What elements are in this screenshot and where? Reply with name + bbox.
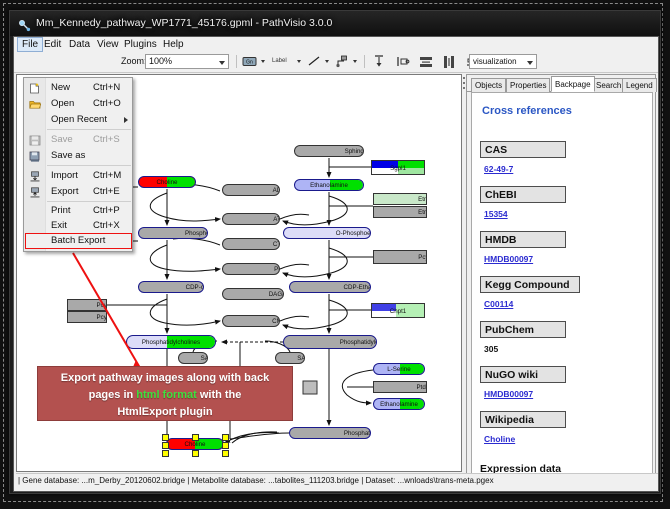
xref-value-kegg-compound[interactable]: C00114 bbox=[484, 299, 513, 309]
node-o-phosphoethanolamine[interactable]: O-Phosphoethanolamine bbox=[283, 227, 371, 239]
import-icon bbox=[29, 170, 41, 181]
node-atp[interactable]: ATP bbox=[222, 213, 280, 225]
xref-header-pubchem: PubChem bbox=[480, 321, 566, 338]
visualization-combobox[interactable]: visualization bbox=[469, 54, 537, 69]
file-menu-item-print[interactable]: Print Ctrl+P bbox=[25, 203, 133, 218]
xref-header-kegg-compound: Kegg Compound bbox=[480, 276, 580, 293]
xref-value-wikipedia[interactable]: Choline bbox=[484, 434, 515, 444]
xref-header-chebi: ChEBI bbox=[480, 186, 566, 203]
node-phosphatidylcholines[interactable]: Phosphatidylcholines bbox=[126, 335, 216, 349]
selection-handle-se[interactable] bbox=[222, 450, 229, 457]
file-menu-exit-accel: Ctrl+X bbox=[93, 218, 120, 233]
zoom-value: 100% bbox=[149, 56, 172, 66]
xref-value-cas[interactable]: 62-49-7 bbox=[484, 164, 513, 174]
selection-handle-nw[interactable] bbox=[162, 434, 169, 441]
tab-objects[interactable]: Objects bbox=[471, 78, 506, 92]
label-dropdown-button[interactable] bbox=[295, 54, 303, 69]
file-menu-item-export[interactable]: Export Ctrl+E bbox=[25, 184, 133, 199]
desktop-background: Mm_Kennedy_pathway_WP1771_45176.gpml - P… bbox=[0, 0, 670, 509]
menu-edit[interactable]: Edit bbox=[40, 38, 65, 51]
node-cmp[interactable]: CMP bbox=[222, 315, 280, 327]
file-menu-import-accel: Ctrl+M bbox=[93, 168, 121, 183]
pathvisio-application-window: Mm_Kennedy_pathway_WP1771_45176.gpml - P… bbox=[9, 10, 661, 494]
annotation-callout: Export pathway images along with back pa… bbox=[37, 366, 293, 421]
file-menu-item-exit[interactable]: Exit Ctrl+X bbox=[25, 218, 133, 233]
menu-view[interactable]: View bbox=[93, 38, 123, 51]
chevron-down-icon bbox=[219, 61, 225, 65]
chevron-down-icon-2 bbox=[527, 61, 533, 65]
callout-line-2: pages in html format with the bbox=[38, 387, 292, 404]
tab-properties[interactable]: Properties bbox=[506, 78, 550, 92]
tab-legend[interactable]: Legend bbox=[622, 78, 657, 92]
cross-references-title: Cross references bbox=[482, 105, 572, 117]
xref-header-nugo-wiki: NuGO wiki bbox=[480, 366, 566, 383]
gene-etnk2[interactable]: Etnk2 bbox=[373, 206, 427, 218]
node-cdp-choline[interactable]: CDP-choline bbox=[138, 281, 204, 293]
sidebar-panel: Objects Properties Backpage Search Legen… bbox=[466, 74, 656, 486]
open-folder-icon bbox=[29, 98, 41, 109]
file-menu-item-import[interactable]: Import Ctrl+M bbox=[25, 168, 133, 183]
submenu-arrow-icon bbox=[124, 117, 128, 123]
node-cdp-ethanolamine[interactable]: CDP-Ethanolamine bbox=[289, 281, 371, 293]
line-tool-button[interactable] bbox=[307, 54, 321, 69]
application-client-area: File Edit Data View Plugins Help Zoom: 1… bbox=[13, 36, 659, 492]
file-menu-export-accel: Ctrl+E bbox=[93, 184, 120, 199]
selection-handle-w[interactable] bbox=[162, 442, 169, 449]
xref-header-cas: CAS bbox=[480, 141, 566, 158]
xref-value-nugo-wiki[interactable]: HMDB00097 bbox=[484, 389, 533, 399]
file-menu-batch-export-label: Batch Export bbox=[51, 235, 105, 246]
gene-chpt1[interactable]: Chpt1 bbox=[371, 303, 425, 318]
selection-handle-e[interactable] bbox=[222, 442, 229, 449]
label-tool-button[interactable]: Label bbox=[272, 54, 294, 69]
zoom-label: Zoom: bbox=[121, 56, 147, 66]
xref-header-hmdb: HMDB bbox=[480, 231, 566, 248]
node-sphingolipids[interactable]: Sphingolipids bbox=[294, 145, 364, 157]
file-menu-save-label: Save bbox=[51, 132, 73, 147]
xref-header-wikipedia: Wikipedia bbox=[480, 411, 566, 428]
node-sah[interactable]: SAH bbox=[178, 352, 208, 364]
sidebar-tab-strip: Objects Properties Backpage Search Legen… bbox=[467, 75, 655, 92]
main-toolbar: Zoom: 100% Gn Label bbox=[14, 52, 658, 73]
window-title-text: Mm_Kennedy_pathway_WP1771_45176.gpml - P… bbox=[36, 11, 332, 36]
distribute-horizontal-button[interactable] bbox=[441, 54, 457, 69]
gene-sgpl1[interactable]: Sgpl1 bbox=[371, 160, 425, 175]
status-bar: | Gene database: ...m_Derby_20120602.bri… bbox=[16, 473, 658, 487]
gene-pcyt1a[interactable]: Pcyt1a bbox=[67, 311, 107, 323]
node-choline-selected[interactable]: Choline bbox=[166, 438, 224, 451]
window-title-bar: Mm_Kennedy_pathway_WP1771_45176.gpml - P… bbox=[10, 11, 660, 36]
file-menu-dropdown[interactable]: New Ctrl+N Open Ctrl+O Open Recent bbox=[23, 77, 133, 252]
node-ppi[interactable]: PPi bbox=[222, 263, 280, 275]
selection-handle-ne[interactable] bbox=[222, 434, 229, 441]
file-menu-item-new[interactable]: New Ctrl+N bbox=[25, 80, 133, 95]
datanode-dropdown-button[interactable] bbox=[259, 54, 267, 69]
callout-line-3: HtmlExport plugin bbox=[38, 404, 292, 421]
node-phosphatidylethanolamine[interactable]: Phosphatidylethanolamine bbox=[283, 335, 377, 349]
file-menu-item-save: Save Ctrl+S bbox=[25, 132, 133, 147]
file-menu-item-save-as[interactable]: Save as bbox=[25, 148, 133, 163]
callout-highlight: html format bbox=[136, 389, 197, 401]
align-left-button[interactable] bbox=[395, 54, 411, 69]
file-menu-open-label: Open bbox=[51, 96, 74, 111]
file-menu-print-label: Print bbox=[51, 203, 71, 218]
node-adp[interactable]: ADP bbox=[222, 184, 280, 196]
interaction-dropdown-button[interactable] bbox=[351, 54, 359, 69]
save-disk-icon bbox=[29, 134, 41, 145]
file-menu-item-open[interactable]: Open Ctrl+O bbox=[25, 96, 133, 111]
datanode-tool-button[interactable]: Gn bbox=[242, 54, 257, 69]
file-menu-import-label: Import bbox=[51, 168, 78, 183]
gene-pcyt1b[interactable]: Pcyt1b bbox=[67, 299, 107, 311]
file-menu-print-accel: Ctrl+P bbox=[93, 203, 120, 218]
selection-handle-sw[interactable] bbox=[162, 450, 169, 457]
xref-value-pubchem: 305 bbox=[484, 344, 498, 354]
gene-ptdss2[interactable]: Ptdss2 bbox=[373, 381, 427, 393]
gene-pcyt2[interactable]: Pcyt2 bbox=[373, 250, 427, 264]
node-dag[interactable]: DAG/DAG bbox=[222, 288, 284, 300]
file-menu-save-accel: Ctrl+S bbox=[93, 132, 120, 147]
callout-line-1: Export pathway images along with back bbox=[38, 370, 292, 387]
callout-line-2-b: with the bbox=[197, 389, 242, 401]
menu-data[interactable]: Data bbox=[65, 38, 94, 51]
line-dropdown-button[interactable] bbox=[323, 54, 331, 69]
node-ethanolamine-2[interactable]: Ethanolamine bbox=[373, 398, 425, 410]
export-icon bbox=[29, 186, 41, 197]
callout-line-2-a: pages in bbox=[89, 389, 137, 401]
menu-plugins[interactable]: Plugins bbox=[120, 38, 161, 51]
file-menu-save-as-label: Save as bbox=[51, 148, 85, 163]
node-ethanolamine[interactable]: Ethanolamine bbox=[294, 179, 364, 191]
toolbar-separator bbox=[236, 55, 237, 68]
xref-value-chebi[interactable]: 15354 bbox=[484, 209, 508, 219]
selection-handle-n[interactable] bbox=[192, 434, 199, 441]
file-menu-open-accel: Ctrl+O bbox=[93, 96, 121, 111]
toolbar-separator-2 bbox=[364, 55, 365, 68]
tab-search[interactable]: Search bbox=[592, 78, 625, 92]
align-top-button[interactable] bbox=[371, 54, 387, 69]
xref-value-hmdb[interactable]: HMDB00097 bbox=[484, 254, 533, 264]
pathvisio-app-icon bbox=[18, 17, 31, 30]
menu-help[interactable]: Help bbox=[159, 38, 188, 51]
node-phosphatidylserine[interactable]: Phosphatidylserine bbox=[289, 427, 371, 439]
node-ctp[interactable]: CTP bbox=[222, 238, 280, 250]
node-sam[interactable]: SAM bbox=[275, 352, 305, 364]
node-l-serine[interactable]: L-Serine bbox=[373, 363, 425, 375]
file-menu-export-label: Export bbox=[51, 184, 78, 199]
file-menu-item-batch-export[interactable]: Batch Export bbox=[25, 233, 132, 249]
menu-bar: File Edit Data View Plugins Help bbox=[14, 37, 658, 53]
file-menu-exit-label: Exit bbox=[51, 218, 67, 233]
file-menu-separator-3 bbox=[47, 201, 131, 202]
visualization-value: visualization bbox=[473, 57, 517, 66]
distribute-vertical-button[interactable] bbox=[418, 54, 434, 69]
file-menu-open-recent-label: Open Recent bbox=[51, 112, 107, 127]
tab-backpage[interactable]: Backpage bbox=[551, 76, 595, 92]
file-menu-item-open-recent[interactable]: Open Recent bbox=[25, 112, 133, 127]
node-phosphocholine[interactable]: Phosphocholine bbox=[138, 227, 208, 239]
gene-etnk1[interactable]: Etnk1 bbox=[373, 193, 427, 205]
save-as-icon bbox=[29, 150, 41, 161]
file-menu-separator-2 bbox=[47, 165, 131, 166]
selection-handle-s[interactable] bbox=[192, 450, 199, 457]
file-menu-separator-1 bbox=[47, 129, 131, 130]
node-choline-top[interactable]: Choline bbox=[138, 176, 196, 188]
zoom-combobox[interactable]: 100% bbox=[145, 54, 229, 69]
file-menu-new-label: New bbox=[51, 80, 70, 95]
backpage-content: Cross references CAS 62-49-7 ChEBI 15354… bbox=[471, 92, 653, 485]
svg-text:Gn: Gn bbox=[246, 60, 253, 66]
file-menu-new-accel: Ctrl+N bbox=[93, 80, 120, 95]
new-document-icon bbox=[29, 82, 41, 93]
interaction-tool-button[interactable] bbox=[335, 54, 349, 69]
